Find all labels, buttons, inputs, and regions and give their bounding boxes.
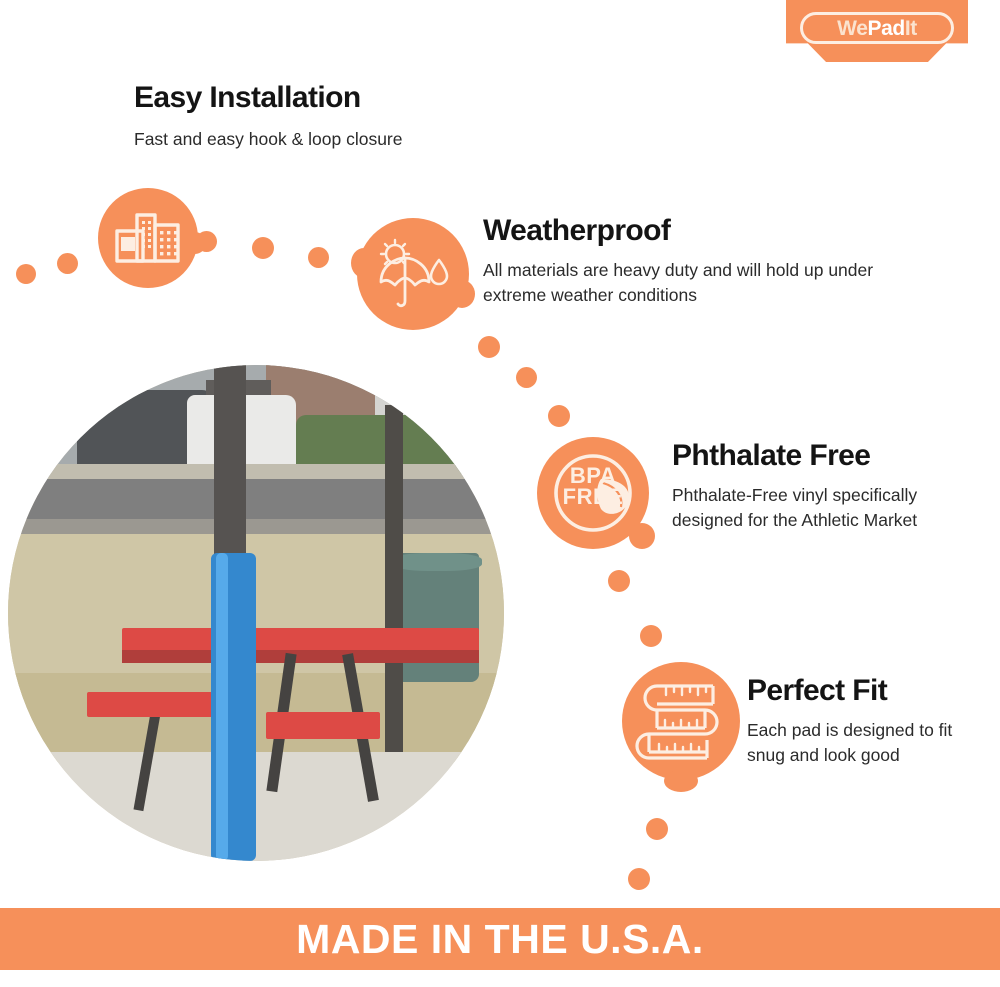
- building-icon-glyph: [115, 211, 181, 265]
- product-photo: [8, 365, 504, 861]
- bpa-label-line1: BPA: [537, 465, 649, 486]
- trail-dot: [646, 818, 668, 840]
- brand-logo-part-pad: Pad: [867, 17, 904, 40]
- feature-body-weatherproof: All materials are heavy duty and will ho…: [483, 258, 913, 309]
- bpa-label-line2: FREE: [537, 486, 649, 507]
- circle-blob-accent: [449, 280, 475, 308]
- bpa-free-label: BPA FREE: [537, 465, 649, 507]
- feature-title-easy-installation: Easy Installation: [134, 82, 361, 114]
- brand-logo-part-it: It: [905, 17, 917, 40]
- trail-dot: [252, 237, 274, 259]
- feature-body-easy-installation: Fast and easy hook & loop closure: [134, 127, 554, 152]
- brand-logo-part-we: We: [837, 17, 867, 40]
- umbrella-sun-rain-glyph: [373, 238, 453, 310]
- trail-dot: [608, 570, 630, 592]
- made-in-usa-banner: MADE IN THE U.S.A.: [0, 908, 1000, 970]
- brand-logo-badge[interactable]: WePadIt: [786, 0, 968, 62]
- photo-overlay: [8, 365, 504, 861]
- feature-title-perfect-fit: Perfect Fit: [747, 675, 887, 707]
- infographic-page: WePadIt Easy Installation Fast and easy …: [0, 0, 1000, 987]
- brand-logo-outline: WePadIt: [800, 12, 954, 44]
- bpa-free-leaf-icon[interactable]: BPA FREE: [537, 437, 649, 549]
- feature-title-phthalate-free: Phthalate Free: [672, 440, 870, 472]
- trail-dot: [516, 367, 537, 388]
- made-in-usa-text: MADE IN THE U.S.A.: [296, 916, 704, 963]
- circle-blob-accent: [664, 770, 698, 792]
- circle-blob-accent: [351, 248, 377, 278]
- trail-dot: [628, 868, 650, 890]
- trail-dot: [308, 247, 329, 268]
- brand-logo-text: WePadIt: [837, 18, 917, 39]
- feature-body-perfect-fit: Each pad is designed to fit snug and loo…: [747, 718, 977, 769]
- feature-title-weatherproof: Weatherproof: [483, 215, 670, 247]
- umbrella-sun-rain-icon[interactable]: [357, 218, 469, 330]
- building-icon[interactable]: [98, 188, 198, 288]
- measuring-tape-icon[interactable]: [622, 662, 740, 780]
- feature-body-phthalate-free: Phthalate-Free vinyl specifically design…: [672, 483, 942, 534]
- trail-dot: [57, 253, 78, 274]
- trail-dot: [548, 405, 570, 427]
- trail-dot: [640, 625, 662, 647]
- circle-blob-accent: [184, 232, 206, 254]
- measuring-tape-glyph: [635, 678, 727, 764]
- trail-dot: [16, 264, 36, 284]
- trail-dot: [478, 336, 500, 358]
